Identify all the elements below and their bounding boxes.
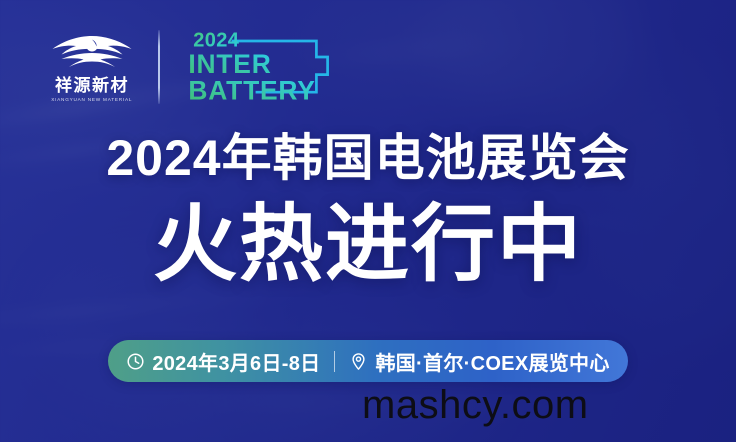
watermark: mashcy.com — [362, 385, 589, 425]
headline-primary: 2024年韩国电池展览会 — [0, 133, 736, 183]
wave-eye-mark-icon — [50, 31, 134, 71]
company-logo: 祥源新材 XIANGYUAN NEW MATERIAL — [44, 31, 140, 103]
header-divider — [158, 30, 160, 104]
inter-battery-logo: 2024 INTER BATTERY — [182, 25, 342, 109]
info-separator — [334, 351, 335, 372]
location-pin-icon — [349, 352, 368, 371]
headline-secondary: 火热进行中 — [0, 198, 736, 290]
event-info-bar: 2024年3月6日-8日 韩国·首尔·COEX展览中心 — [108, 340, 628, 382]
svg-text:INTER: INTER — [188, 49, 271, 79]
banner-header: 祥源新材 XIANGYUAN NEW MATERIAL 2024 INTER B — [44, 24, 342, 110]
promo-banner: 祥源新材 XIANGYUAN NEW MATERIAL 2024 INTER B — [0, 0, 736, 442]
event-date: 2024年3月6日-8日 — [152, 347, 320, 376]
event-location: 韩国·首尔·COEX展览中心 — [375, 347, 609, 376]
clock-icon — [126, 352, 145, 371]
svg-text:BATTERY: BATTERY — [188, 75, 315, 105]
company-name-en: XIANGYUAN NEW MATERIAL — [51, 98, 132, 103]
company-name-cn: 祥源新材 — [55, 77, 129, 94]
